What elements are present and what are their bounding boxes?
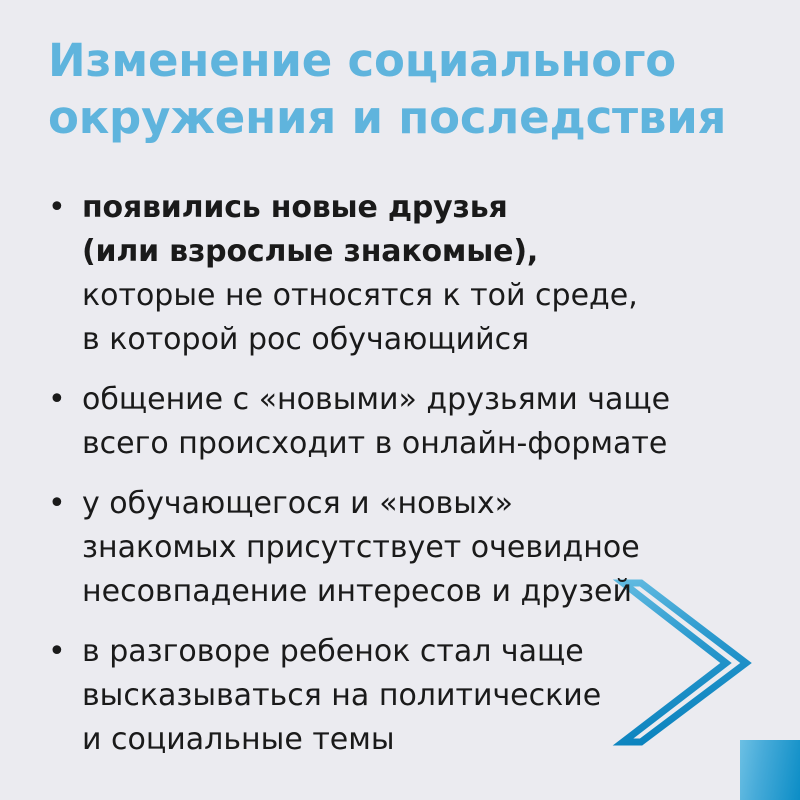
list-item: • появились новые друзья (или взрослые з…	[44, 186, 756, 362]
bullet-line: в разговоре ребенок стал чаще	[82, 630, 756, 674]
bullet-dot-icon: •	[44, 186, 82, 230]
page-title: Изменение социального окружения и послед…	[48, 32, 754, 146]
bullet-line: и социальные темы	[82, 718, 756, 762]
list-item-text: общение с «новыми» друзьями чаще всего п…	[82, 378, 756, 466]
bullet-line: появились новые друзья	[82, 186, 756, 230]
bullet-line: которые не относятся к той среде,	[82, 274, 756, 318]
list-item-text: появились новые друзья (или взрослые зна…	[82, 186, 756, 362]
bullet-line: в которой рос обучающийся	[82, 318, 756, 362]
bullet-line: высказываться на политические	[82, 674, 756, 718]
bullet-line: знакомых присутствует очевидное	[82, 526, 756, 570]
list-item: • в разговоре ребенок стал чаще высказыв…	[44, 630, 756, 762]
bullet-dot-icon: •	[44, 482, 82, 526]
bullet-dot-icon: •	[44, 378, 82, 422]
bullet-line: всего происходит в онлайн-формате	[82, 422, 756, 466]
list-item-text: в разговоре ребенок стал чаще высказыват…	[82, 630, 756, 762]
bullet-dot-icon: •	[44, 630, 82, 674]
bullet-line: общение с «новыми» друзьями чаще	[82, 378, 756, 422]
bullet-line: несовпадение интересов и друзей	[82, 570, 756, 614]
bullet-list: • появились новые друзья (или взрослые з…	[44, 186, 756, 762]
bullet-line: у обучающегося и «новых»	[82, 482, 756, 526]
presentation-slide: Изменение социального окружения и послед…	[0, 0, 800, 800]
list-item: • у обучающегося и «новых» знакомых прис…	[44, 482, 756, 614]
list-item-text: у обучающегося и «новых» знакомых присут…	[82, 482, 756, 614]
list-item: • общение с «новыми» друзьями чаще всего…	[44, 378, 756, 466]
bullet-line: (или взрослые знакомые),	[82, 230, 756, 274]
